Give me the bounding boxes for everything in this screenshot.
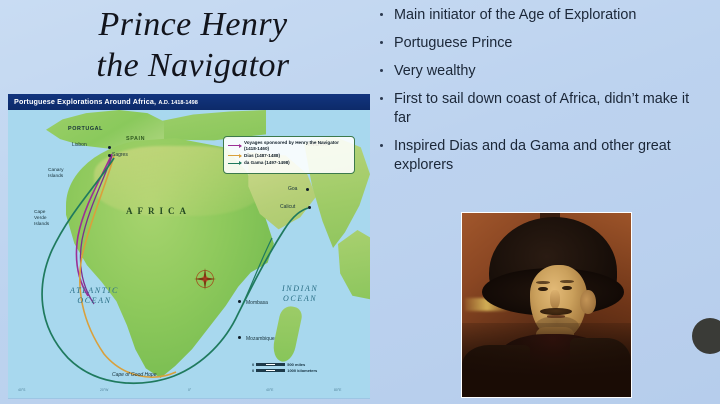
portrait-nose (550, 290, 560, 308)
legend-swatch-henry (228, 145, 241, 146)
portrait-mustache (540, 308, 572, 315)
title-line-2: the Navigator (18, 45, 368, 86)
scale-km-label: 1000 kilometers (287, 368, 317, 373)
list-item: Inspired Dias and da Gama and other grea… (378, 137, 708, 175)
map-ocean-indian: INDIANOCEAN (282, 284, 318, 304)
portrait-eyebrow-right (560, 280, 574, 283)
map-title-era: A.D. 1418-1498 (158, 100, 198, 106)
city-dot-calicut (308, 206, 311, 209)
list-item: First to sail down coast of Africa, didn… (378, 90, 708, 128)
edge-circle-decoration (692, 318, 720, 354)
legend-item-dagama: da Gama (1497-1498) (228, 160, 350, 166)
compass-rose-icon (194, 268, 216, 290)
legend-item-dias: Dias (1487-1488) (228, 153, 350, 159)
legend-item-henry: Voyages sponsored by Henry the Navigator… (228, 140, 350, 151)
bullet-list: Main initiator of the Age of Exploration… (378, 6, 708, 184)
portrait-shadow-overlay (462, 323, 631, 397)
portrait-image (461, 212, 632, 398)
map-image: Portuguese Explorations Around Africa, A… (8, 94, 370, 399)
map-place-cape-verde-islands: CapeVerdeIslands (34, 210, 49, 228)
map-legend: Voyages sponsored by Henry the Navigator… (223, 136, 355, 174)
legend-label-dias: Dias (1487-1488) (244, 153, 280, 159)
scale-zero-miles: 0 (252, 362, 254, 367)
scale-bar-km (256, 369, 285, 372)
map-city-goa: Goa (288, 186, 297, 192)
map-place-cape-of-good-hope: Cape of Good Hope (112, 372, 156, 378)
graticule-label: 40°E (266, 388, 273, 392)
map-country-spain: SPAIN (126, 136, 145, 142)
map-country-portugal: PORTUGAL (68, 126, 103, 132)
portrait-eyebrow-left (536, 281, 550, 284)
portrait-ear (580, 290, 595, 314)
presentation-slide: Prince Henry the Navigator Portuguese Ex… (0, 0, 720, 404)
graticule-label: 0° (188, 388, 191, 392)
scale-zero-km: 0 (252, 368, 254, 373)
legend-label-henry: Voyages sponsored by Henry the Navigator… (244, 140, 350, 151)
legend-swatch-dias (228, 155, 241, 156)
title-line-1: Prince Henry (18, 4, 368, 45)
graticule-label: 40°S (18, 388, 25, 392)
list-item: Very wealthy (378, 62, 708, 81)
list-item: Portuguese Prince (378, 34, 708, 53)
map-canvas: 40°S 20°W 0° 40°E 80°E AFRICA INDIA ATLA… (8, 110, 370, 399)
city-dot-lisbon (108, 146, 111, 149)
legend-label-dagama: da Gama (1497-1498) (244, 160, 290, 166)
map-city-calicut: Calicut (280, 204, 295, 210)
legend-swatch-dagama (228, 163, 241, 164)
map-place-canary-islands: CanaryIslands (48, 168, 63, 180)
scale-miles-label: 500 miles (287, 362, 305, 367)
map-ocean-atlantic: ATLANTICOCEAN (70, 286, 119, 306)
list-item: Main initiator of the Age of Exploration (378, 6, 708, 25)
page-title: Prince Henry the Navigator (18, 4, 368, 87)
map-scale-bar: 0 500 miles 0 1000 kilometers (252, 362, 317, 374)
map-city-sagres: Sagres (112, 152, 128, 158)
map-title-bar: Portuguese Explorations Around Africa, A… (8, 94, 370, 110)
city-dot-mombasa (238, 300, 241, 303)
map-city-mombasa: Mombasa (246, 300, 268, 306)
city-dot-sagres (108, 154, 111, 157)
city-dot-goa (306, 188, 309, 191)
map-title-text: Portuguese Explorations Around Africa, (14, 97, 156, 106)
map-region-africa: AFRICA (126, 206, 191, 216)
graticule-label: 20°W (100, 388, 108, 392)
city-dot-mozambique (238, 336, 241, 339)
map-city-mozambique: Mozambique (246, 336, 275, 342)
scale-bar-miles (256, 363, 285, 366)
map-city-lisbon: Lisbon (72, 142, 87, 148)
graticule-label: 80°E (334, 388, 341, 392)
